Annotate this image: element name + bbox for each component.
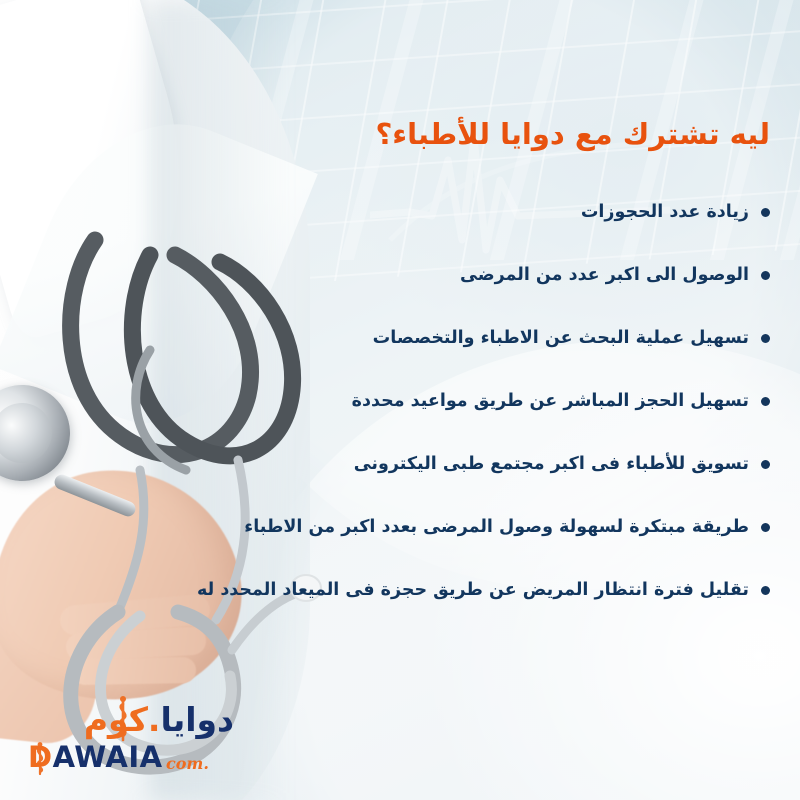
benefit-text: زيادة عدد الحجوزات [581,202,749,223]
bullet-dot-icon [761,397,770,406]
promo-poster: ليه تشترك مع دوايا للأطباء؟ زيادة عدد ال… [0,0,800,800]
benefit-text: طريقة مبتكرة لسهولة وصول المرضى بعدد اكب… [244,517,749,538]
finger [65,626,206,661]
bullet-dot-icon [761,271,770,280]
bullet-dot-icon [761,460,770,469]
bullet-dot-icon [761,586,770,595]
brand-logo[interactable]: دوايا.كوم DAWAIA .com [18,694,238,782]
logo-arabic-name: دوايا [160,700,234,739]
bullet-dot-icon [761,334,770,343]
list-item: زيادة عدد الحجوزات [70,184,770,241]
finger [72,657,196,685]
list-item: تسويق للأطباء فى اكبر مجتمع طبى اليكترون… [70,436,770,493]
benefit-text: تقليل فترة انتظار المريض عن طريق حجزة فى… [197,580,749,601]
bullet-dot-icon [761,208,770,217]
list-item: تقليل فترة انتظار المريض عن طريق حجزة فى… [70,562,770,619]
benefit-text: الوصول الى اكبر عدد من المرضى [460,265,749,286]
list-item: طريقة مبتكرة لسهولة وصول المرضى بعدد اكب… [70,499,770,556]
caduceus-icon [30,742,50,776]
caduceus-icon [110,696,136,742]
bullet-dot-icon [761,523,770,532]
logo-tld-latin: .com [166,754,209,773]
benefit-text: تسهيل الحجز المباشر عن طريق مواعيد محددة [352,391,749,412]
benefit-text: تسويق للأطباء فى اكبر مجتمع طبى اليكترون… [354,454,749,475]
benefit-text: تسهيل عملية البحث عن الاطباء والتخصصات [373,328,749,349]
benefits-list: زيادة عدد الحجوزات الوصول الى اكبر عدد م… [70,184,770,625]
page-title: ليه تشترك مع دوايا للأطباء؟ [375,117,770,151]
logo-latin-rest: AWAIA [53,740,163,774]
list-item: تسهيل عملية البحث عن الاطباء والتخصصات [70,310,770,367]
list-item: الوصول الى اكبر عدد من المرضى [70,247,770,304]
list-item: تسهيل الحجز المباشر عن طريق مواعيد محددة [70,373,770,430]
